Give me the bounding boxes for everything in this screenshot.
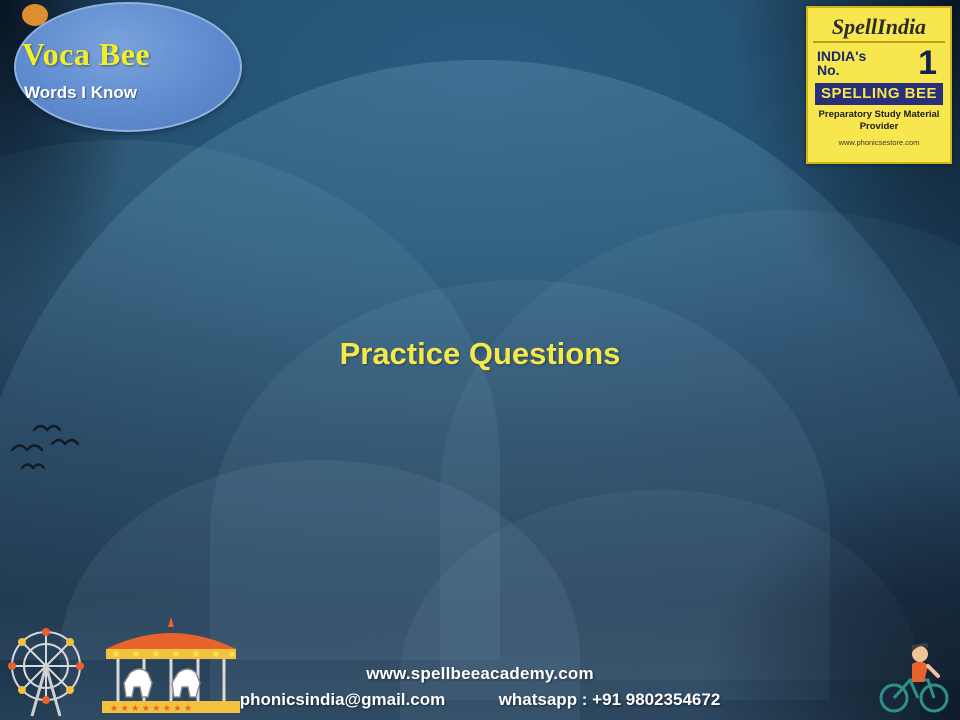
logo-title: Voca Bee [22,36,150,73]
spellindia-url: www.phonicsestore.com [813,138,945,147]
spellindia-descriptor: Preparatory Study Material Provider [813,109,945,133]
spellindia-rank-label: INDIA's No. [817,49,866,78]
logo-tagline: Words I Know [24,83,137,103]
spellindia-brand: SpellIndia [813,14,945,39]
slide: Voca Bee Words I Know SpellIndia INDIA's… [0,0,960,720]
spellindia-country-label: INDIA's [817,49,866,64]
footer-email[interactable]: phonicsindia@gmail.com [240,690,446,709]
footer-whatsapp[interactable]: whatsapp : +91 9802354672 [499,690,721,709]
spellindia-banner: SPELLING BEE [815,83,943,105]
footer-contact-line: phonicsindia@gmail.com whatsapp : +91 98… [0,690,960,710]
page-title: Practice Questions [0,336,960,372]
footer-website[interactable]: www.spellbeeacademy.com [0,664,960,684]
spellindia-rank-number: 1 [918,46,941,80]
bee-wing-icon [22,4,48,26]
birds-icon [8,408,128,478]
spellindia-badge: SpellIndia INDIA's No. 1 SPELLING BEE Pr… [806,6,952,164]
footer: www.spellbeeacademy.com phonicsindia@gma… [0,664,960,710]
spellindia-rank-row: INDIA's No. 1 [813,46,945,80]
spellindia-no-label: No. [817,63,866,78]
spellindia-divider [813,41,945,43]
